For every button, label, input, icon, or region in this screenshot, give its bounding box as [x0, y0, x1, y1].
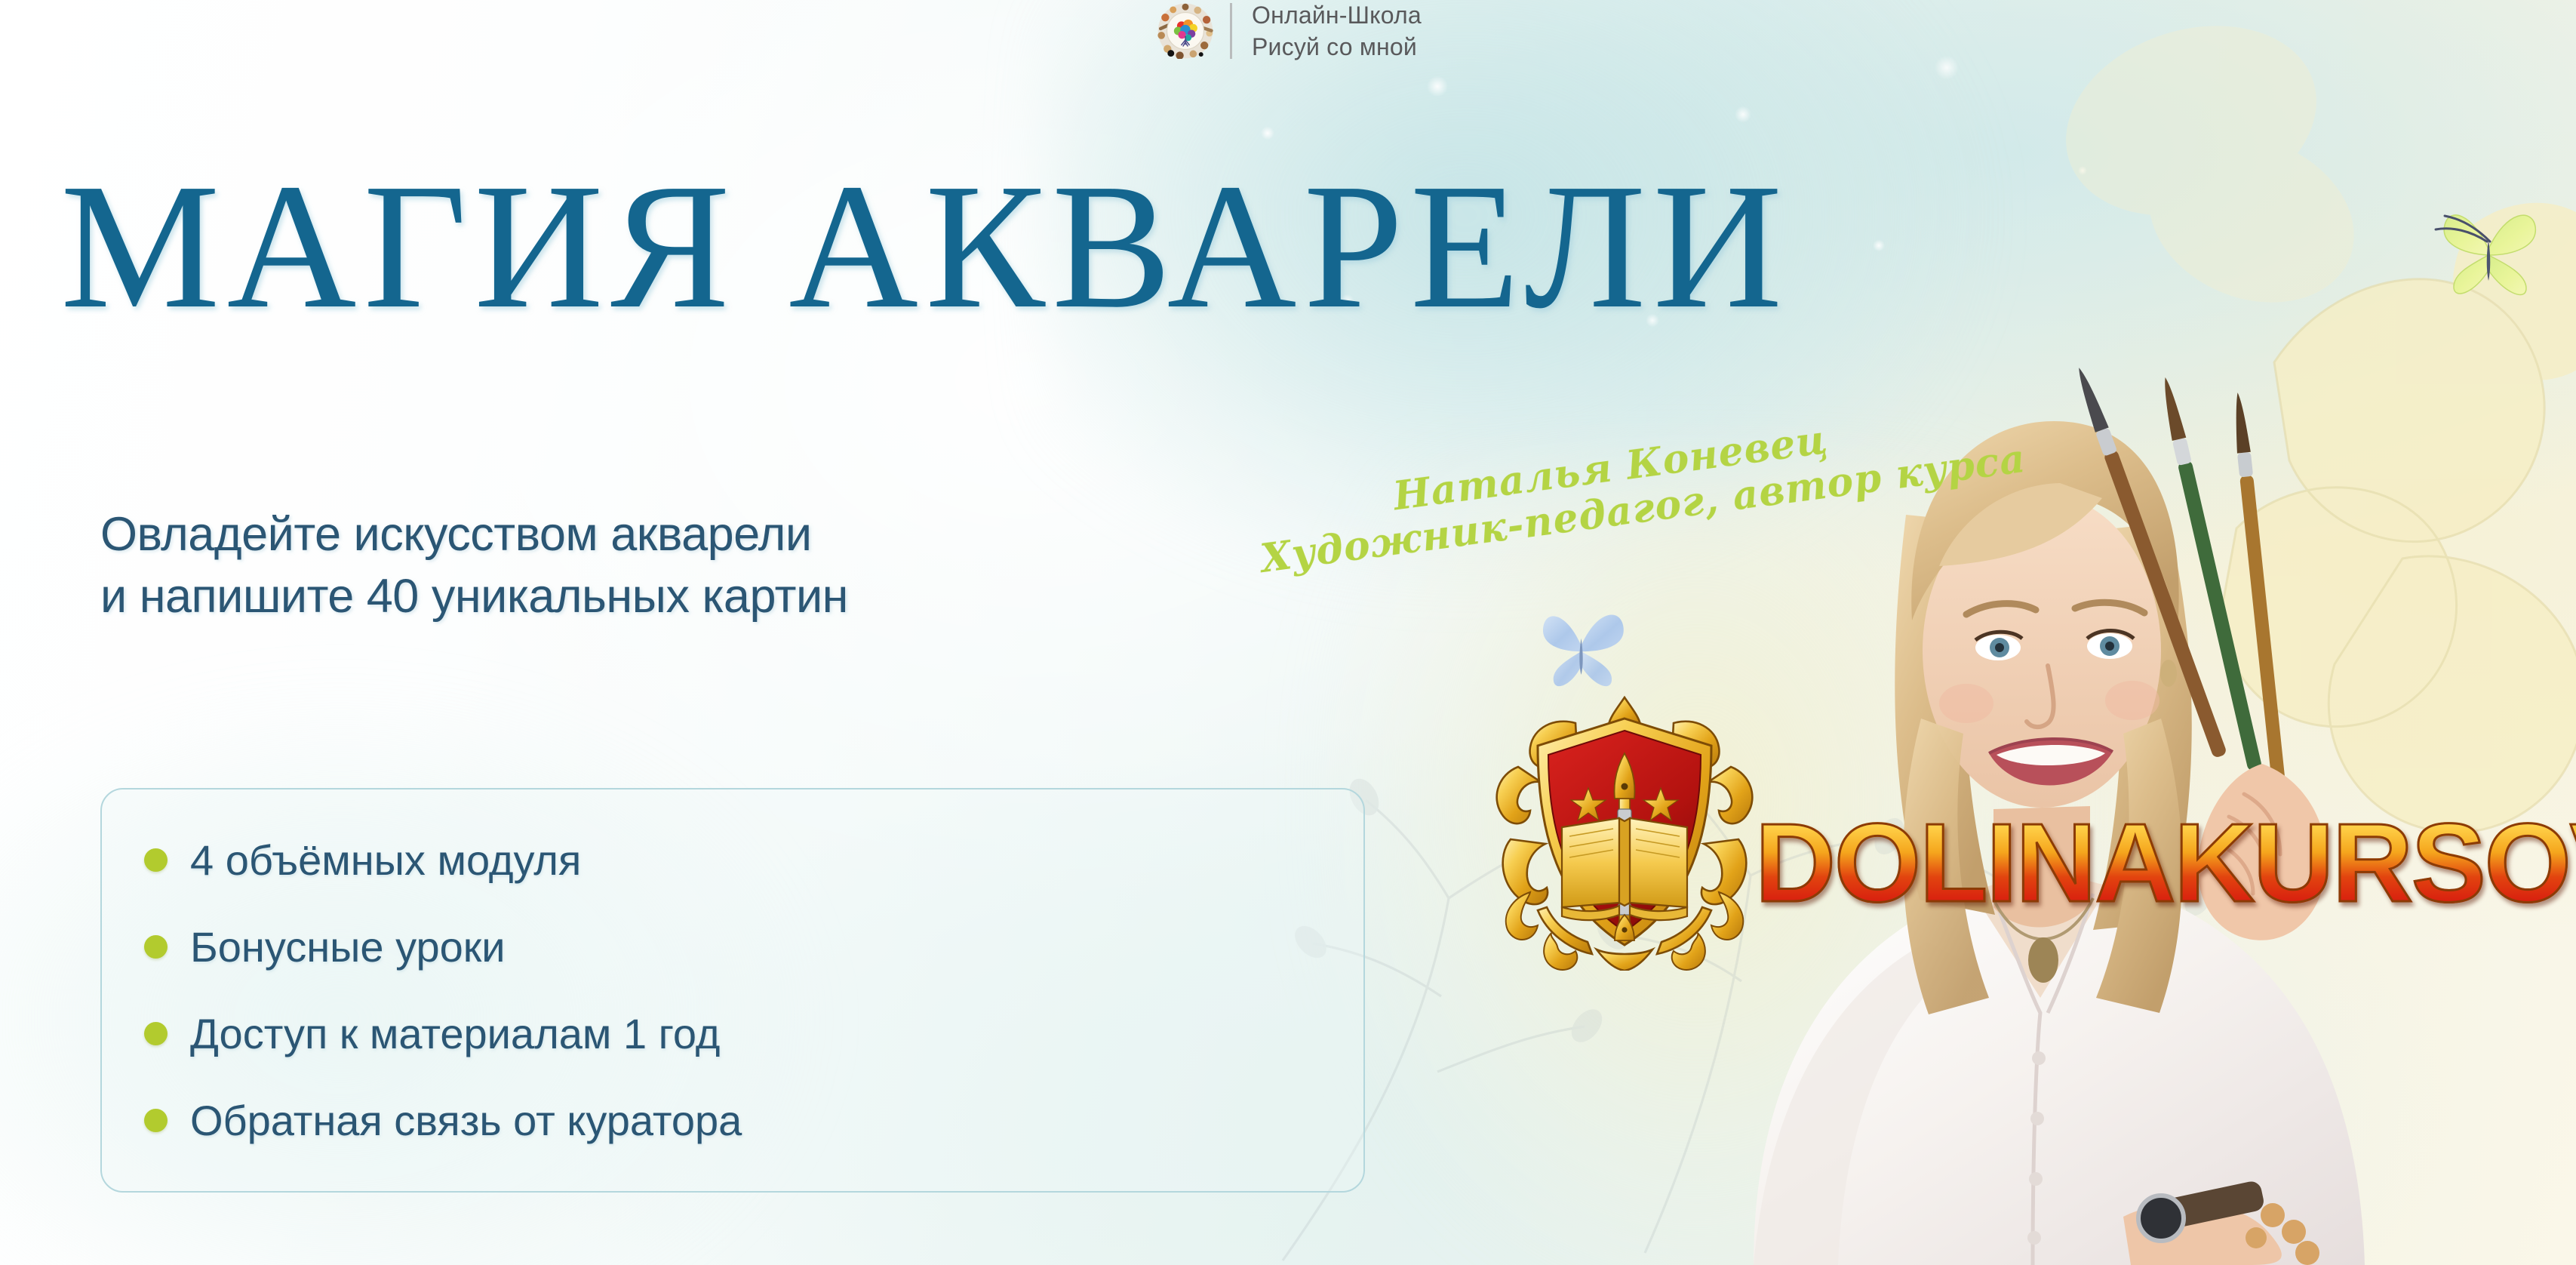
brand-header: Онлайн-Школа Рисуй со мной: [1157, 3, 1422, 59]
subtitle-line-2: и напишите 40 уникальных картин: [100, 566, 848, 628]
watermark: DOLINAKURSOV: [1485, 684, 2576, 971]
bullet-icon: [144, 1109, 168, 1132]
heraldic-crest-icon: [1485, 684, 1764, 971]
feature-label: Доступ к материалам 1 год: [190, 1013, 720, 1055]
promo-banner: Онлайн-Школа Рисуй со мной МАГИЯ АКВАРЕЛ…: [0, 0, 2576, 1265]
feature-label: Бонусные уроки: [190, 926, 506, 968]
rainbow-tree-palette-logo-icon: [1157, 3, 1213, 59]
subtitle: Овладейте искусством акварели и напишите…: [100, 504, 848, 628]
butterfly-icon-blue: [1530, 593, 1632, 695]
features-box: 4 объёмных модуля Бонусные уроки Доступ …: [100, 788, 1365, 1193]
watermark-text: DOLINAKURSOV: [1755, 808, 2576, 919]
header-divider: [1230, 3, 1232, 59]
feature-label: 4 объёмных модуля: [190, 839, 581, 882]
feature-item: Обратная связь от куратора: [144, 1077, 1363, 1164]
brand-line-1: Онлайн-Школа: [1252, 3, 1422, 27]
subtitle-line-1: Овладейте искусством акварели: [100, 504, 848, 566]
bullet-icon: [144, 1022, 168, 1045]
bullet-icon: [144, 848, 168, 872]
feature-label: Обратная связь от куратора: [190, 1100, 742, 1142]
brand-name: Онлайн-Школа Рисуй со мной: [1252, 3, 1422, 59]
brand-line-2: Рисуй со мной: [1252, 35, 1422, 59]
feature-item: Доступ к материалам 1 год: [144, 990, 1363, 1077]
butterfly-icon-green: [2428, 190, 2549, 311]
bullet-icon: [144, 935, 168, 959]
page-title: МАГИЯ АКВАРЕЛИ: [60, 157, 2362, 337]
feature-item: 4 объёмных модуля: [144, 817, 1363, 903]
feature-item: Бонусные уроки: [144, 903, 1363, 990]
